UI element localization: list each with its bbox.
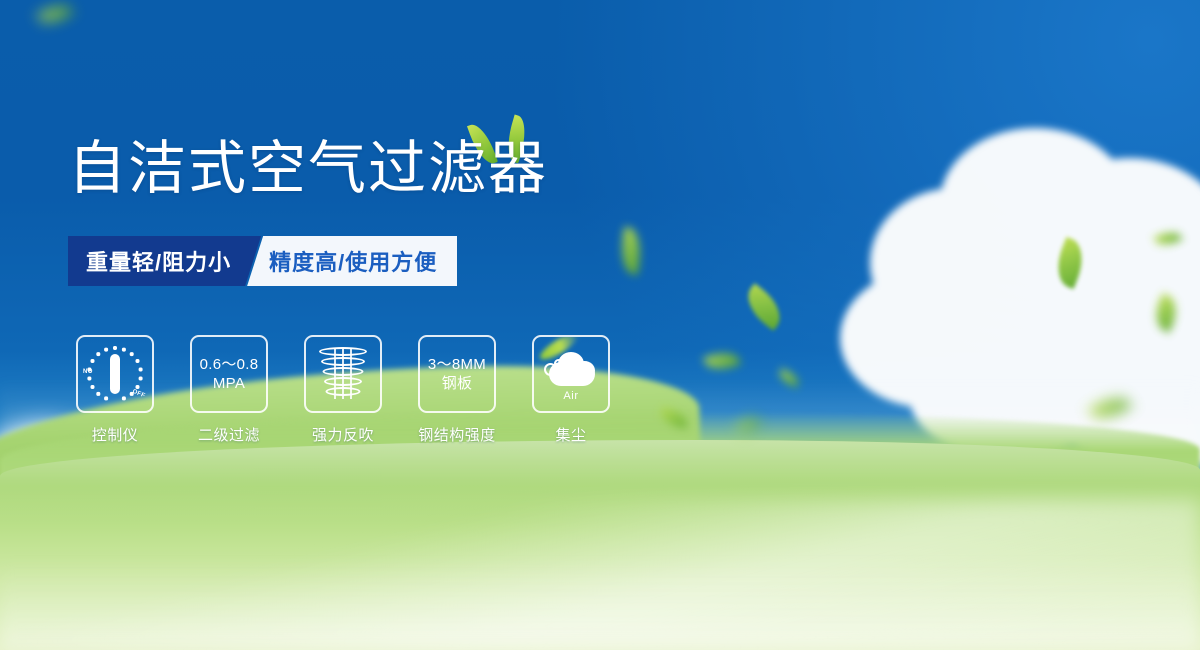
air-cloud-icon: Air — [541, 348, 601, 400]
steel-plate-text-icon: 3～8MM 钢板 — [428, 355, 486, 393]
feature-item-steel[interactable]: 3～8MM 钢板 钢结构强度 — [418, 335, 496, 445]
feature-text-line2: MPA — [200, 374, 259, 393]
feature-text-line1: 3～8MM — [428, 356, 486, 373]
dial-pointer — [110, 354, 120, 394]
feature-icon-box: 3～8MM 钢板 — [418, 335, 496, 413]
page-title: 自洁式空气过滤器 — [68, 140, 548, 198]
coil-spring-icon — [316, 345, 370, 403]
control-dial-icon: NO OFF — [84, 345, 146, 403]
feature-text-line1: 0.6～0.8 — [200, 356, 259, 373]
feature-icon-box: 0.6～0.8 MPA — [190, 335, 268, 413]
leaf-floating — [739, 283, 790, 331]
feature-item-blowback[interactable]: 强力反吹 — [304, 335, 382, 445]
air-label: Air — [541, 390, 601, 402]
dial-label-off: OFF — [131, 389, 145, 400]
feature-list: NO OFF 控制仪 0.6～0.8 MPA 二级过滤 — [76, 335, 610, 445]
leaf-floating — [618, 227, 644, 275]
feature-item-dust[interactable]: Air 集尘 — [532, 335, 610, 445]
dial-label-no: NO — [83, 369, 93, 375]
subtitle-left-panel: 重量轻/阻力小 — [68, 236, 261, 286]
promo-banner: 自洁式空气过滤器 重量轻/阻力小 精度高/使用方便 — [0, 0, 1200, 650]
leaf-floating — [703, 347, 741, 375]
feature-caption: 钢结构强度 — [418, 424, 496, 445]
subtitle-right-panel: 精度高/使用方便 — [247, 236, 457, 286]
meadow-bottom-glow — [0, 560, 1200, 650]
subtitle-bar: 重量轻/阻力小 精度高/使用方便 — [68, 236, 457, 286]
feature-item-filter[interactable]: 0.6～0.8 MPA 二级过滤 — [190, 335, 268, 445]
feature-caption: 强力反吹 — [312, 424, 374, 445]
pressure-text-icon: 0.6～0.8 MPA — [200, 355, 259, 393]
feature-icon-box — [304, 335, 382, 413]
feature-caption: 二级过滤 — [198, 424, 260, 445]
feature-icon-box: NO OFF — [76, 335, 154, 413]
leaf-floating — [36, 0, 74, 29]
feature-text-line2: 钢板 — [428, 374, 486, 393]
feature-item-control[interactable]: NO OFF 控制仪 — [76, 335, 154, 445]
feature-caption: 控制仪 — [92, 424, 139, 445]
feature-caption: 集尘 — [555, 424, 586, 445]
feature-icon-box: Air — [532, 335, 610, 413]
